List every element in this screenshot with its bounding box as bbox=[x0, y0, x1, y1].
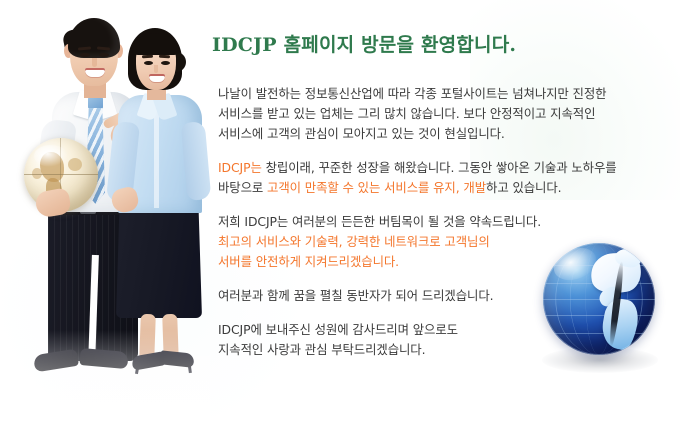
woman-shoe-right bbox=[159, 350, 194, 367]
man-nose bbox=[92, 58, 97, 67]
man-eye-left bbox=[80, 53, 90, 57]
highlighted-text: IDCJP는 bbox=[218, 160, 262, 175]
body-text: IDCJP에 보내주신 성원에 감사드리며 앞으로도 bbox=[218, 322, 458, 337]
highlighted-text: 서버를 안전하게 지켜드리겠습니다. bbox=[218, 254, 399, 269]
vintage-globe-landmass-c bbox=[68, 158, 82, 171]
man-shoe-left bbox=[33, 349, 79, 373]
body-text: 여러분과 함께 꿈을 펼칠 동반자가 되어 드리겠습니다. bbox=[218, 288, 493, 303]
body-text: 서비스를 받고 있는 업체는 그리 많치 않습니다. 보다 안정적이고 지속적인 bbox=[218, 106, 595, 121]
woman-eye-right bbox=[161, 61, 170, 65]
woman-skirt bbox=[116, 208, 202, 318]
vintage-globe-equator bbox=[24, 174, 98, 175]
welcome-banner: IDCJP 홈페이지 방문을 환영합니다. 나날이 발전하는 정보통신산업에 따… bbox=[0, 0, 680, 431]
blue-globe-graphic bbox=[538, 243, 658, 381]
woman-smile bbox=[149, 74, 165, 82]
body-text: 저희 IDCJP는 여러분의 든든한 버팀목이 될 것을 약속드립니다. bbox=[218, 214, 541, 229]
man-shoe-right bbox=[79, 348, 128, 369]
paragraph-growth: IDCJP는 창립이래, 꾸준한 성장을 해왔습니다. 그동안 쌓아온 기술과 … bbox=[218, 158, 670, 198]
body-text: 지속적인 사랑과 관심 부탁드리겠습니다. bbox=[218, 342, 425, 357]
paragraph-intro: 나날이 발전하는 정보통신산업에 따라 각종 포털사이트는 넘쳐나지만 진정한서… bbox=[218, 84, 670, 144]
woman-nose bbox=[154, 65, 158, 73]
vintage-globe-highlight bbox=[34, 145, 68, 167]
woman-blouse-placket bbox=[154, 108, 159, 208]
man-eye-right bbox=[99, 53, 109, 57]
man-smile bbox=[85, 68, 105, 77]
woman-eye-left bbox=[144, 61, 153, 65]
highlighted-text: 고객이 만족할 수 있는 서비스를 유지, 개발 bbox=[267, 180, 486, 195]
body-text: 창립이래, 꾸준한 성장을 해왔습니다. 그동안 쌓아온 기술과 노하우를 bbox=[262, 160, 617, 175]
business-people-photo bbox=[0, 0, 210, 400]
man-hair bbox=[68, 18, 120, 58]
blue-globe-sphere bbox=[543, 243, 655, 355]
body-text: 서비스에 고객의 관심이 모아지고 있는 것이 현실입니다. bbox=[218, 126, 505, 141]
man-tie-knot bbox=[88, 96, 103, 110]
body-text: 하고 있습니다. bbox=[486, 180, 561, 195]
body-text: 바탕으로 bbox=[218, 180, 267, 195]
page-title: IDCJP 홈페이지 방문을 환영합니다. bbox=[212, 30, 516, 57]
body-text: 나날이 발전하는 정보통신산업에 따라 각종 포털사이트는 넘쳐나지만 진정한 bbox=[218, 86, 606, 101]
highlighted-text: 최고의 서비스와 기술력, 강력한 네트워크로 고객님의 bbox=[218, 234, 490, 249]
